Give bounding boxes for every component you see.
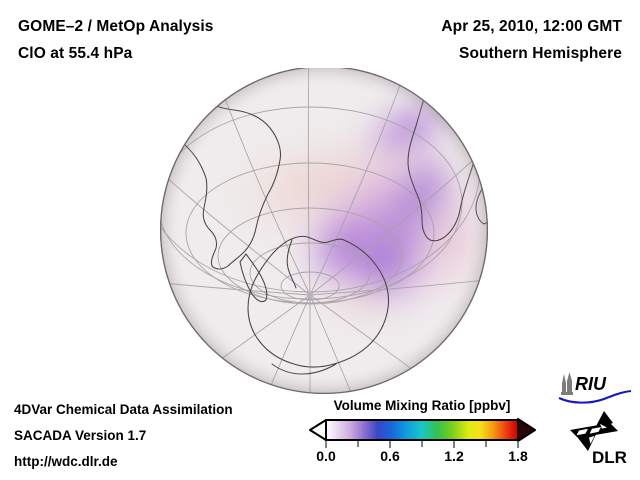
colorbar-tick-label-2: 1.2 (434, 448, 474, 464)
colorbar-over-arrow (518, 419, 535, 441)
dlr-aircraft-icon (570, 411, 618, 451)
coastline-australia (478, 98, 498, 166)
datetime-label: Apr 25, 2010, 12:00 GMT (441, 18, 622, 36)
globe-svg (158, 68, 498, 398)
colorbar: Volume Mixing Ratio [ppbv] (306, 398, 538, 472)
hemisphere-label: Southern Hemisphere (459, 45, 622, 63)
method-label: 4DVar Chemical Data Assimilation (14, 402, 233, 417)
colorbar-gradient (326, 420, 518, 440)
colorbar-title: Volume Mixing Ratio [ppbv] (306, 398, 538, 413)
coastline-new-zealand (208, 394, 239, 398)
species-level-title: ClO at 55.4 hPa (18, 45, 132, 63)
orthographic-globe-map (158, 68, 498, 398)
globe-limb-shading (160, 68, 488, 394)
dlr-logo: DLR (566, 410, 634, 472)
colorbar-tick-label-3: 1.8 (498, 448, 538, 464)
version-label: SACADA Version 1.7 (14, 428, 146, 443)
dlr-wordmark: DLR (592, 448, 627, 467)
colorbar-scale[interactable] (306, 418, 538, 448)
riu-wordmark: RIU (575, 374, 607, 394)
colorbar-under-arrow (310, 420, 326, 440)
colorbar-tick-label-1: 0.6 (370, 448, 410, 464)
riu-logo: RIU (556, 371, 634, 407)
instrument-title: GOME–2 / MetOp Analysis (18, 18, 214, 36)
riu-cathedral-tower-icon (561, 372, 573, 395)
visualization-canvas: GOME–2 / MetOp Analysis ClO at 55.4 hPa … (0, 0, 640, 480)
colorbar-ticks (326, 441, 518, 448)
data-center-url[interactable]: http://wdc.dlr.de (14, 454, 118, 469)
colorbar-tick-label-0: 0.0 (306, 448, 346, 464)
